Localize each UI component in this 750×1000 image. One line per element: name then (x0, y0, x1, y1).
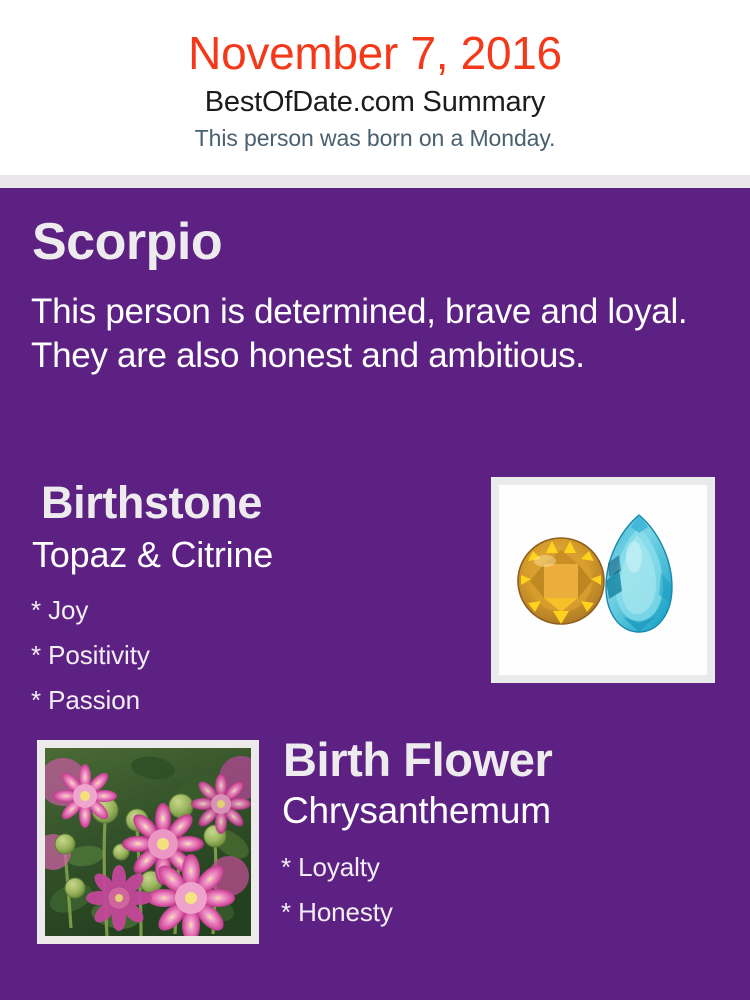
summary-page: November 7, 2016 BestOfDate.com Summary … (0, 0, 750, 1000)
list-item: * Positivity (31, 633, 150, 678)
list-item: * Joy (31, 588, 150, 633)
list-item: * Honesty (281, 890, 393, 935)
birth-flower-image-frame (37, 740, 259, 944)
gemstones-illustration (499, 485, 707, 675)
page-title-date: November 7, 2016 (0, 0, 750, 80)
birthstone-heading: Birthstone (41, 477, 262, 529)
content-panel: Scorpio This person is determined, brave… (0, 188, 750, 1000)
page-header: November 7, 2016 BestOfDate.com Summary … (0, 0, 750, 175)
birthstone-image-frame (491, 477, 715, 683)
list-item: * Loyalty (281, 845, 393, 890)
header-divider (0, 175, 750, 188)
site-summary-label: BestOfDate.com Summary (0, 80, 750, 120)
chrysanthemum-illustration (45, 748, 251, 936)
birth-flower-name: Chrysanthemum (282, 789, 551, 833)
birth-flower-trait-list: * Loyalty * Honesty (281, 845, 393, 935)
birth-flower-heading: Birth Flower (283, 733, 552, 787)
birthstone-trait-list: * Joy * Positivity * Passion (31, 588, 150, 723)
birthstone-name: Topaz & Citrine (32, 533, 273, 577)
birthstone-photo (499, 485, 707, 675)
list-item: * Passion (31, 678, 150, 723)
zodiac-description: This person is determined, brave and loy… (31, 290, 707, 378)
born-day-note: This person was born on a Monday. (0, 120, 750, 153)
zodiac-sign-title: Scorpio (32, 213, 222, 271)
birth-flower-photo (45, 748, 251, 936)
